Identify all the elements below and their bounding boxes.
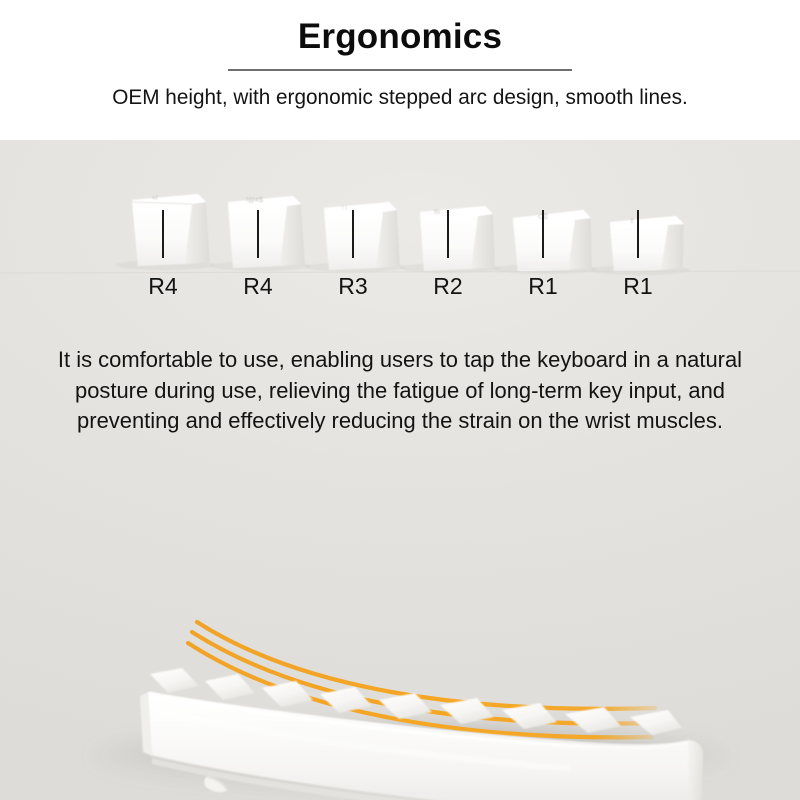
title-underline-rule xyxy=(228,69,572,71)
row-label-r4-a: R4 xyxy=(133,275,193,298)
svg-text:!@#$: !@#$ xyxy=(246,197,263,204)
body-paragraph: It is comfortable to use, enabling users… xyxy=(31,345,768,437)
product-feature-slide: Ergonomics OEM height, with ergonomic st… xyxy=(0,0,800,800)
keycap-r3: ↑↓ xyxy=(305,202,405,272)
photo-area: ≈/ !@#$ ↑↓ xyxy=(0,140,800,800)
row-label-r4-b: R4 xyxy=(228,275,288,298)
row-label-r2: R2 xyxy=(418,275,478,298)
row-label-r1-b: R1 xyxy=(608,275,668,298)
keyboard-scene xyxy=(0,440,800,800)
row-label-r3: R3 xyxy=(323,275,383,298)
keycap-r1-a: ⌫ xyxy=(493,210,597,274)
keycap-r2: fn xyxy=(400,206,500,273)
leader-line-2 xyxy=(257,210,259,258)
keycap-r4-b: !@#$ xyxy=(210,196,310,271)
header-band: Ergonomics OEM height, with ergonomic st… xyxy=(0,0,800,140)
keycap-r1-b: ⇧ xyxy=(590,216,690,275)
page-subtitle: OEM height, with ergonomic stepped arc d… xyxy=(14,82,786,112)
svg-text:≈/: ≈/ xyxy=(152,195,158,202)
svg-text:⇧: ⇧ xyxy=(629,217,635,225)
keyboard-and-arcs-svg xyxy=(0,440,800,800)
page-title: Ergonomics xyxy=(0,16,800,58)
white-mechanical-keyboard xyxy=(140,668,703,800)
keycap-row-svg: ≈/ !@#$ ↑↓ xyxy=(0,140,800,315)
leader-line-3 xyxy=(352,210,354,258)
keycap-profile-diagram: ≈/ !@#$ ↑↓ xyxy=(0,140,800,315)
row-label-r1-a: R1 xyxy=(513,275,573,298)
svg-text:↑↓: ↑↓ xyxy=(341,204,348,211)
svg-text:fn: fn xyxy=(434,209,440,216)
keycap-r4-a: ≈/ xyxy=(115,194,215,270)
leader-line-1 xyxy=(162,210,164,258)
leader-line-5 xyxy=(542,210,544,258)
leader-line-6 xyxy=(637,210,639,258)
leader-line-4 xyxy=(447,210,449,258)
